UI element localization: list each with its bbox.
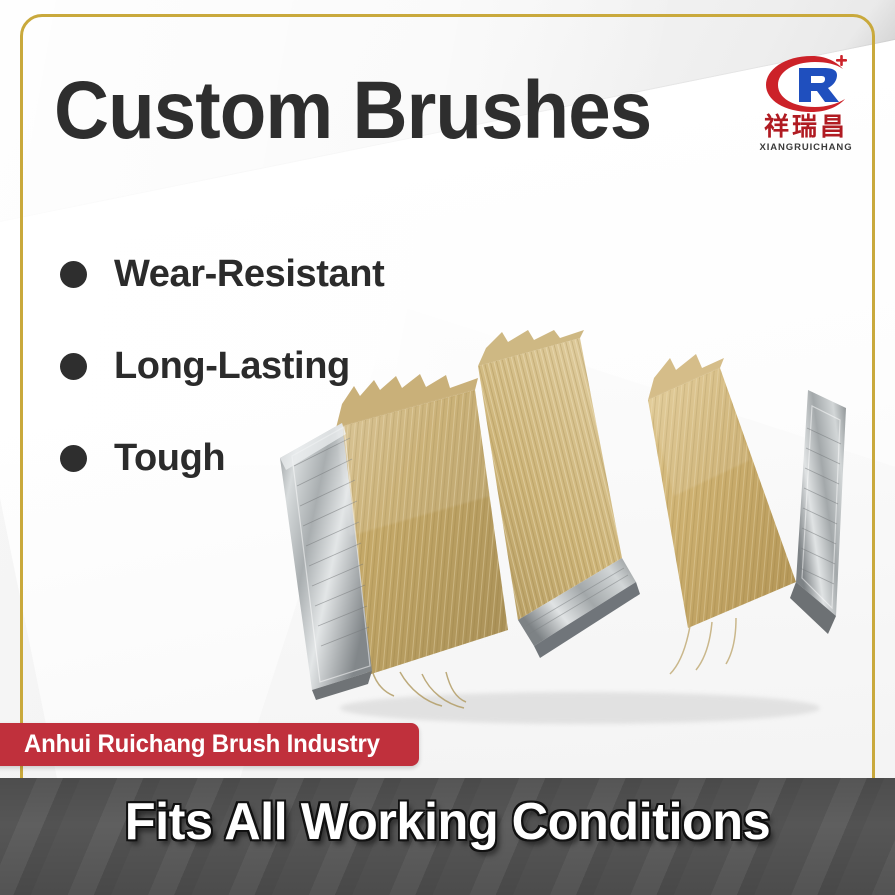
feature-label: Wear-Resistant [114,253,384,296]
bullet-dot-icon [60,353,87,380]
bottom-slogan-label: Fits All Working Conditions [13,792,881,852]
list-item: Wear-Resistant [60,228,500,320]
product-image-strip-brushes [250,330,870,730]
page-title: Custom Brushes [54,70,651,152]
bullet-dot-icon [60,261,87,288]
feature-label: Tough [114,437,225,480]
company-logo: 祥瑞昌 XIANGRUICHANG [748,52,864,164]
company-name-badge: Anhui Ruichang Brush Industry [0,723,419,766]
bullet-dot-icon [60,445,87,472]
promo-banner-canvas: Custom Brushes 祥瑞昌 XIANGRUICHANG Wear-Re… [0,0,895,895]
logo-chinese-name: 祥瑞昌 [748,114,864,140]
bottom-slogan-banner: Fits All Working Conditions [0,778,895,895]
logo-cr-monogram-icon [754,52,858,114]
logo-pinyin: XIANGRUICHANG [748,142,864,153]
company-name-label: Anhui Ruichang Brush Industry [24,730,380,759]
